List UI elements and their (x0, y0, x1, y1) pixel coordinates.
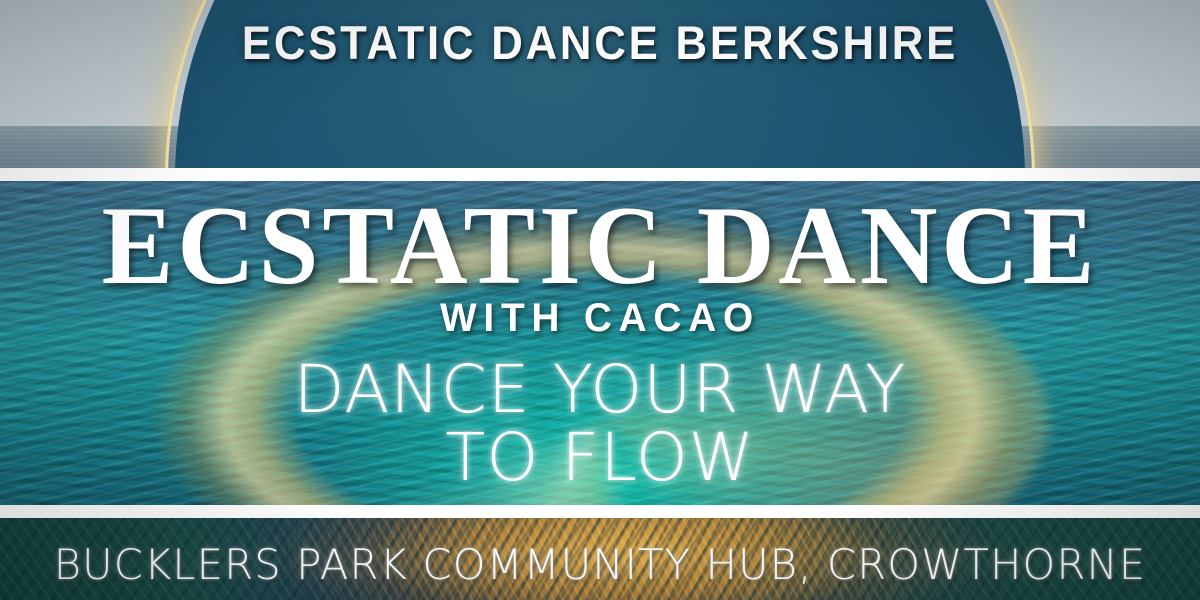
divider-bottom (0, 505, 1200, 518)
tagline-line-1: DANCE YOUR WAY (294, 351, 907, 428)
venue-location: BUCKLERS PARK COMMUNITY HUB, CROWTHORNE (6, 540, 1194, 589)
divider-top (0, 168, 1200, 181)
organisation-name: ECSTATIC DANCE BERKSHIRE (42, 15, 1158, 70)
event-title: ECSTATIC DANCE (24, 190, 1176, 302)
event-banner: ECSTATIC DANCE BERKSHIRE ECSTATIC DANCE … (0, 0, 1200, 600)
event-subtitle: WITH CACAO (18, 296, 1182, 341)
tagline-line-2: TO FLOW (0, 424, 1200, 492)
event-tagline: DANCE YOUR WAY TO FLOW (0, 356, 1200, 492)
